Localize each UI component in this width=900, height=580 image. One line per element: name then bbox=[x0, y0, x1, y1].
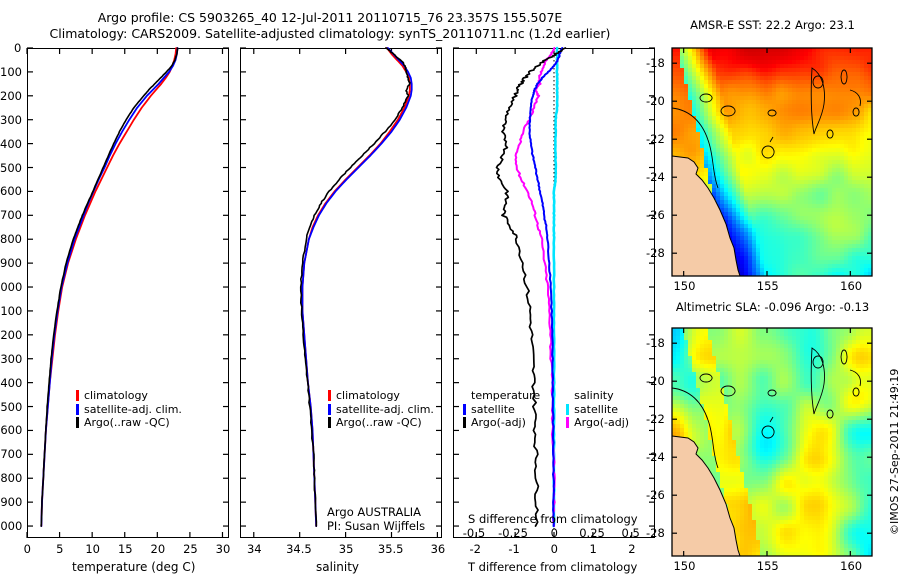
sla-map[interactable] bbox=[672, 328, 872, 556]
legend-color-swatch bbox=[328, 417, 331, 428]
difference-legend-group: salinitysatelliteArgo(-adj) bbox=[566, 389, 629, 430]
difference-legend-item: satellite bbox=[566, 403, 629, 417]
plot-title: Argo profile: CS 5903265_40 12-Jul-2011 … bbox=[0, 10, 660, 42]
difference-plot-area bbox=[453, 48, 655, 538]
legend-color-swatch bbox=[328, 390, 331, 401]
y-tick-label: 200 bbox=[0, 89, 22, 103]
legend-label: Argo(..raw -QC) bbox=[336, 416, 422, 430]
salinity-difference-axis-label: S difference from climatology bbox=[468, 512, 638, 526]
x-tick-label-top: -0.25 bbox=[498, 526, 528, 540]
map-y-tick-label: -24 bbox=[646, 170, 665, 184]
legend-color-swatch bbox=[463, 417, 466, 428]
map-x-tick-label: 155 bbox=[757, 279, 779, 293]
x-tick-label: 15 bbox=[118, 542, 133, 556]
y-tick-label: 1200 bbox=[0, 328, 22, 342]
map-x-tick-label: 160 bbox=[840, 559, 862, 573]
legend-label: Argo(..raw -QC) bbox=[84, 416, 170, 430]
legend-label: satellite bbox=[471, 403, 515, 417]
legend-label: Argo(-adj) bbox=[574, 416, 629, 430]
salinity-plot-area bbox=[240, 48, 442, 538]
x-tick-label: 30 bbox=[216, 542, 231, 556]
y-tick-label: 1300 bbox=[0, 352, 22, 366]
legend-label: satellite-adj. clim. bbox=[336, 403, 434, 417]
program-name: Argo AUSTRALIA bbox=[327, 505, 425, 519]
legend-label: satellite bbox=[574, 403, 618, 417]
difference-legend-item: Argo(-adj) bbox=[463, 416, 540, 430]
legend-color-swatch bbox=[566, 417, 569, 428]
y-tick-label: 700 bbox=[0, 208, 22, 222]
map-y-tick-label: -20 bbox=[646, 94, 665, 108]
y-tick-label: 100 bbox=[0, 65, 22, 79]
y-tick-label: 1700 bbox=[0, 447, 22, 461]
x-tick-label: 20 bbox=[151, 542, 166, 556]
x-tick-label: 34 bbox=[247, 542, 262, 556]
title-line-2: Climatology: CARS2009. Satellite-adjuste… bbox=[0, 26, 660, 42]
y-tick-label: 500 bbox=[0, 161, 22, 175]
legend-label: satellite-adj. clim. bbox=[84, 403, 182, 417]
imos-credit: ©IMOS 27-Sep-2011 21:49:19 bbox=[888, 369, 900, 535]
x-tick-label-bottom: 2 bbox=[628, 542, 635, 556]
temperature-legend-item: climatology bbox=[76, 389, 182, 403]
difference-legend-item: Argo(-adj) bbox=[566, 416, 629, 430]
salinity-legend-item: satellite-adj. clim. bbox=[328, 403, 434, 417]
sst-map[interactable] bbox=[672, 48, 872, 276]
map-y-tick-label: -22 bbox=[646, 412, 665, 426]
map-y-tick-label: -24 bbox=[646, 450, 665, 464]
temperature-axis-label: temperature (deg C) bbox=[72, 560, 195, 574]
y-tick-label: 2000 bbox=[0, 519, 22, 533]
x-tick-label: 5 bbox=[56, 542, 63, 556]
legend-label: climatology bbox=[84, 389, 148, 403]
map-x-tick-label: 150 bbox=[673, 279, 695, 293]
y-tick-label: 1800 bbox=[0, 471, 22, 485]
temperature-difference-axis-label: T difference from climatology bbox=[468, 560, 637, 574]
sst-map-title: AMSR-E SST: 22.2 Argo: 23.1 bbox=[665, 18, 880, 32]
salinity-axis-label: salinity bbox=[316, 560, 359, 574]
legend-color-swatch bbox=[463, 404, 466, 415]
y-tick-label: 1400 bbox=[0, 376, 22, 390]
x-tick-label: 36 bbox=[431, 542, 446, 556]
map-y-tick-label: -18 bbox=[646, 56, 665, 70]
map-y-tick-label: -20 bbox=[646, 374, 665, 388]
temperature-legend-item: Argo(..raw -QC) bbox=[76, 416, 182, 430]
map-y-tick-label: -18 bbox=[646, 336, 665, 350]
title-line-1: Argo profile: CS 5903265_40 12-Jul-2011 … bbox=[0, 10, 660, 26]
map-y-tick-label: -28 bbox=[646, 246, 665, 260]
x-tick-label-bottom: 0 bbox=[551, 542, 558, 556]
y-tick-label: 1000 bbox=[0, 280, 22, 294]
x-tick-label-top: -0.5 bbox=[463, 526, 485, 540]
legend-color-swatch bbox=[328, 404, 331, 415]
legend-color-swatch bbox=[76, 390, 79, 401]
provider-info: Argo AUSTRALIA PI: Susan Wijffels bbox=[327, 505, 425, 533]
x-tick-label: 35 bbox=[339, 542, 354, 556]
y-tick-label: 1100 bbox=[0, 304, 22, 318]
y-tick-label: 300 bbox=[0, 113, 22, 127]
y-tick-label: 1600 bbox=[0, 423, 22, 437]
salinity-legend: climatologysatellite-adj. clim.Argo(..ra… bbox=[328, 389, 434, 430]
x-tick-label: 34.5 bbox=[286, 542, 312, 556]
sla-map-title: Altimetric SLA: -0.096 Argo: -0.13 bbox=[665, 300, 880, 314]
legend-group-heading: temperature bbox=[471, 389, 540, 403]
temperature-legend: climatologysatellite-adj. clim.Argo(..ra… bbox=[76, 389, 182, 430]
map-x-tick-label: 160 bbox=[840, 279, 862, 293]
temperature-legend-item: satellite-adj. clim. bbox=[76, 403, 182, 417]
legend-color-swatch bbox=[566, 404, 569, 415]
x-tick-label-bottom: -1 bbox=[508, 542, 519, 556]
legend-label: climatology bbox=[336, 389, 400, 403]
temperature-plot-area bbox=[27, 48, 229, 538]
x-tick-label-bottom: 1 bbox=[589, 542, 596, 556]
map-y-tick-label: -26 bbox=[646, 208, 665, 222]
x-tick-label: 35.5 bbox=[378, 542, 404, 556]
x-tick-label: 10 bbox=[85, 542, 100, 556]
x-tick-label-top: 0.5 bbox=[621, 526, 639, 540]
map-x-tick-label: 150 bbox=[673, 559, 695, 573]
y-tick-label: 1500 bbox=[0, 400, 22, 414]
difference-legend-item: satellite bbox=[463, 403, 540, 417]
x-tick-label-top: 0.25 bbox=[579, 526, 605, 540]
salinity-legend-item: Argo(..raw -QC) bbox=[328, 416, 434, 430]
principal-investigator: PI: Susan Wijffels bbox=[327, 519, 425, 533]
y-tick-label: 900 bbox=[0, 256, 22, 270]
y-tick-label: 400 bbox=[0, 137, 22, 151]
y-tick-label: 600 bbox=[0, 184, 22, 198]
map-y-tick-label: -28 bbox=[646, 526, 665, 540]
y-tick-label: 0 bbox=[14, 41, 21, 55]
y-tick-label: 1900 bbox=[0, 495, 22, 509]
y-tick-label: 800 bbox=[0, 232, 22, 246]
map-x-tick-label: 155 bbox=[757, 559, 779, 573]
x-tick-label: 0 bbox=[24, 542, 31, 556]
salinity-legend-item: climatology bbox=[328, 389, 434, 403]
map-y-tick-label: -26 bbox=[646, 488, 665, 502]
difference-legend: temperaturesatelliteArgo(-adj)salinitysa… bbox=[463, 389, 629, 430]
legend-color-swatch bbox=[76, 417, 79, 428]
legend-label: Argo(-adj) bbox=[471, 416, 526, 430]
x-tick-label: 25 bbox=[183, 542, 198, 556]
legend-color-swatch bbox=[76, 404, 79, 415]
x-tick-label-bottom: -2 bbox=[470, 542, 481, 556]
legend-group-heading: salinity bbox=[574, 389, 629, 403]
difference-legend-group: temperaturesatelliteArgo(-adj) bbox=[463, 389, 540, 430]
x-tick-label-top: 0 bbox=[551, 526, 558, 540]
map-y-tick-label: -22 bbox=[646, 132, 665, 146]
